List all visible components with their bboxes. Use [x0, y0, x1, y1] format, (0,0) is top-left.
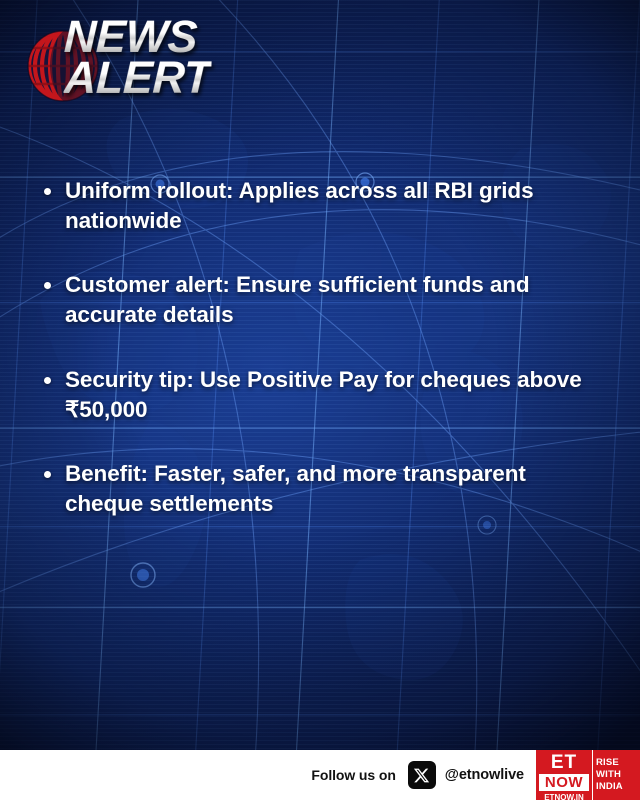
social-handle[interactable]: @etnowlive [445, 767, 524, 783]
etnow-et-text: ET [551, 753, 577, 772]
news-alert-card: NEWS ALERT Uniform rollout: Applies acro… [0, 0, 640, 800]
bullet-dot-icon [44, 188, 51, 195]
bullet-text: Security tip: Use Positive Pay for chequ… [65, 365, 608, 425]
x-twitter-icon[interactable] [408, 761, 436, 789]
list-item: Uniform rollout: Applies across all RBI … [44, 176, 608, 236]
bullet-text: Customer alert: Ensure sufficient funds … [65, 270, 608, 330]
bullet-text: Uniform rollout: Applies across all RBI … [65, 176, 608, 236]
etnow-url-text: ETNOW.IN [536, 793, 592, 800]
bullet-dot-icon [44, 471, 51, 478]
follow-us-label: Follow us on [311, 767, 395, 783]
etnow-tagline: RISE WITH INDIA [592, 750, 640, 800]
list-item: Benefit: Faster, safer, and more transpa… [44, 459, 608, 519]
list-item: Security tip: Use Positive Pay for chequ… [44, 365, 608, 425]
etnow-logo[interactable]: ET NOW ETNOW.IN RISE WITH INDIA [536, 750, 640, 800]
footer-bar: Follow us on @etnowlive ET NOW ETNOW.IN … [0, 750, 640, 800]
etnow-mark: ET NOW ETNOW.IN [536, 750, 592, 800]
bullet-text: Benefit: Faster, safer, and more transpa… [65, 459, 608, 519]
etnow-now-text: NOW [539, 774, 589, 791]
bullet-list: Uniform rollout: Applies across all RBI … [44, 176, 608, 553]
tagline-line-2: WITH [594, 769, 639, 781]
list-item: Customer alert: Ensure sufficient funds … [44, 270, 608, 330]
bullet-dot-icon [44, 282, 51, 289]
tagline-line-3: INDIA [594, 781, 639, 793]
logo-line-alert: ALERT [63, 59, 211, 98]
news-alert-logo: NEWS ALERT [26, 18, 226, 118]
tagline-line-1: RISE [594, 757, 639, 769]
logo-line-news: NEWS [63, 18, 211, 57]
bullet-dot-icon [44, 377, 51, 384]
news-alert-wordmark: NEWS ALERT [64, 18, 211, 97]
